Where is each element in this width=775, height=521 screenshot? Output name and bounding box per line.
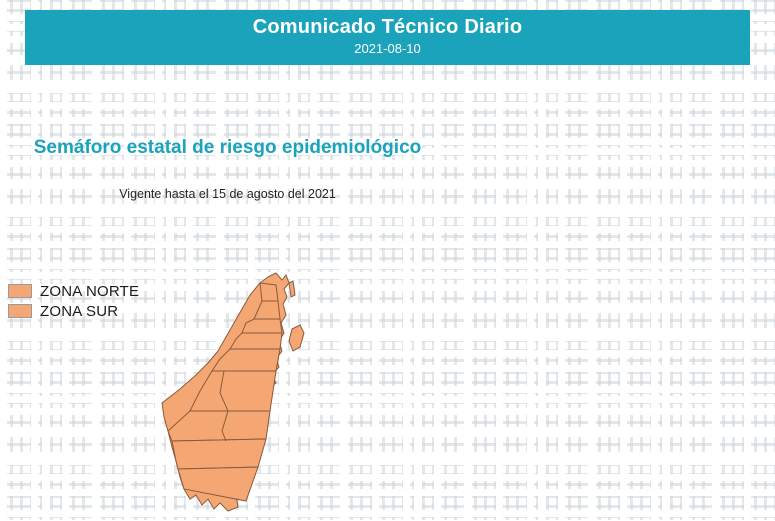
legend-swatch-icon [8, 284, 32, 298]
map-island-mujeres [289, 281, 295, 297]
map-svg [150, 271, 340, 516]
quintana-roo-map [150, 271, 340, 516]
map-island-cozumel [289, 325, 304, 351]
semaforo-subtitle: Vigente hasta el 15 de agosto del 2021 [0, 187, 455, 201]
map-division-1 [260, 283, 278, 301]
map-division-8 [172, 439, 266, 469]
legend-label: ZONA NORTE [40, 283, 139, 300]
page-title: Comunicado Técnico Diario [25, 15, 750, 40]
legend-label: ZONA SUR [40, 303, 118, 320]
legend-swatch-icon [8, 304, 32, 318]
page-header: Comunicado Técnico Diario 2021-08-10 [25, 10, 750, 65]
report-date: 2021-08-10 [25, 40, 750, 58]
semaforo-title: Semáforo estatal de riesgo epidemiológic… [0, 137, 455, 159]
dashboard-page: Comunicado Técnico Diario 2021-08-10 Sem… [0, 0, 775, 521]
